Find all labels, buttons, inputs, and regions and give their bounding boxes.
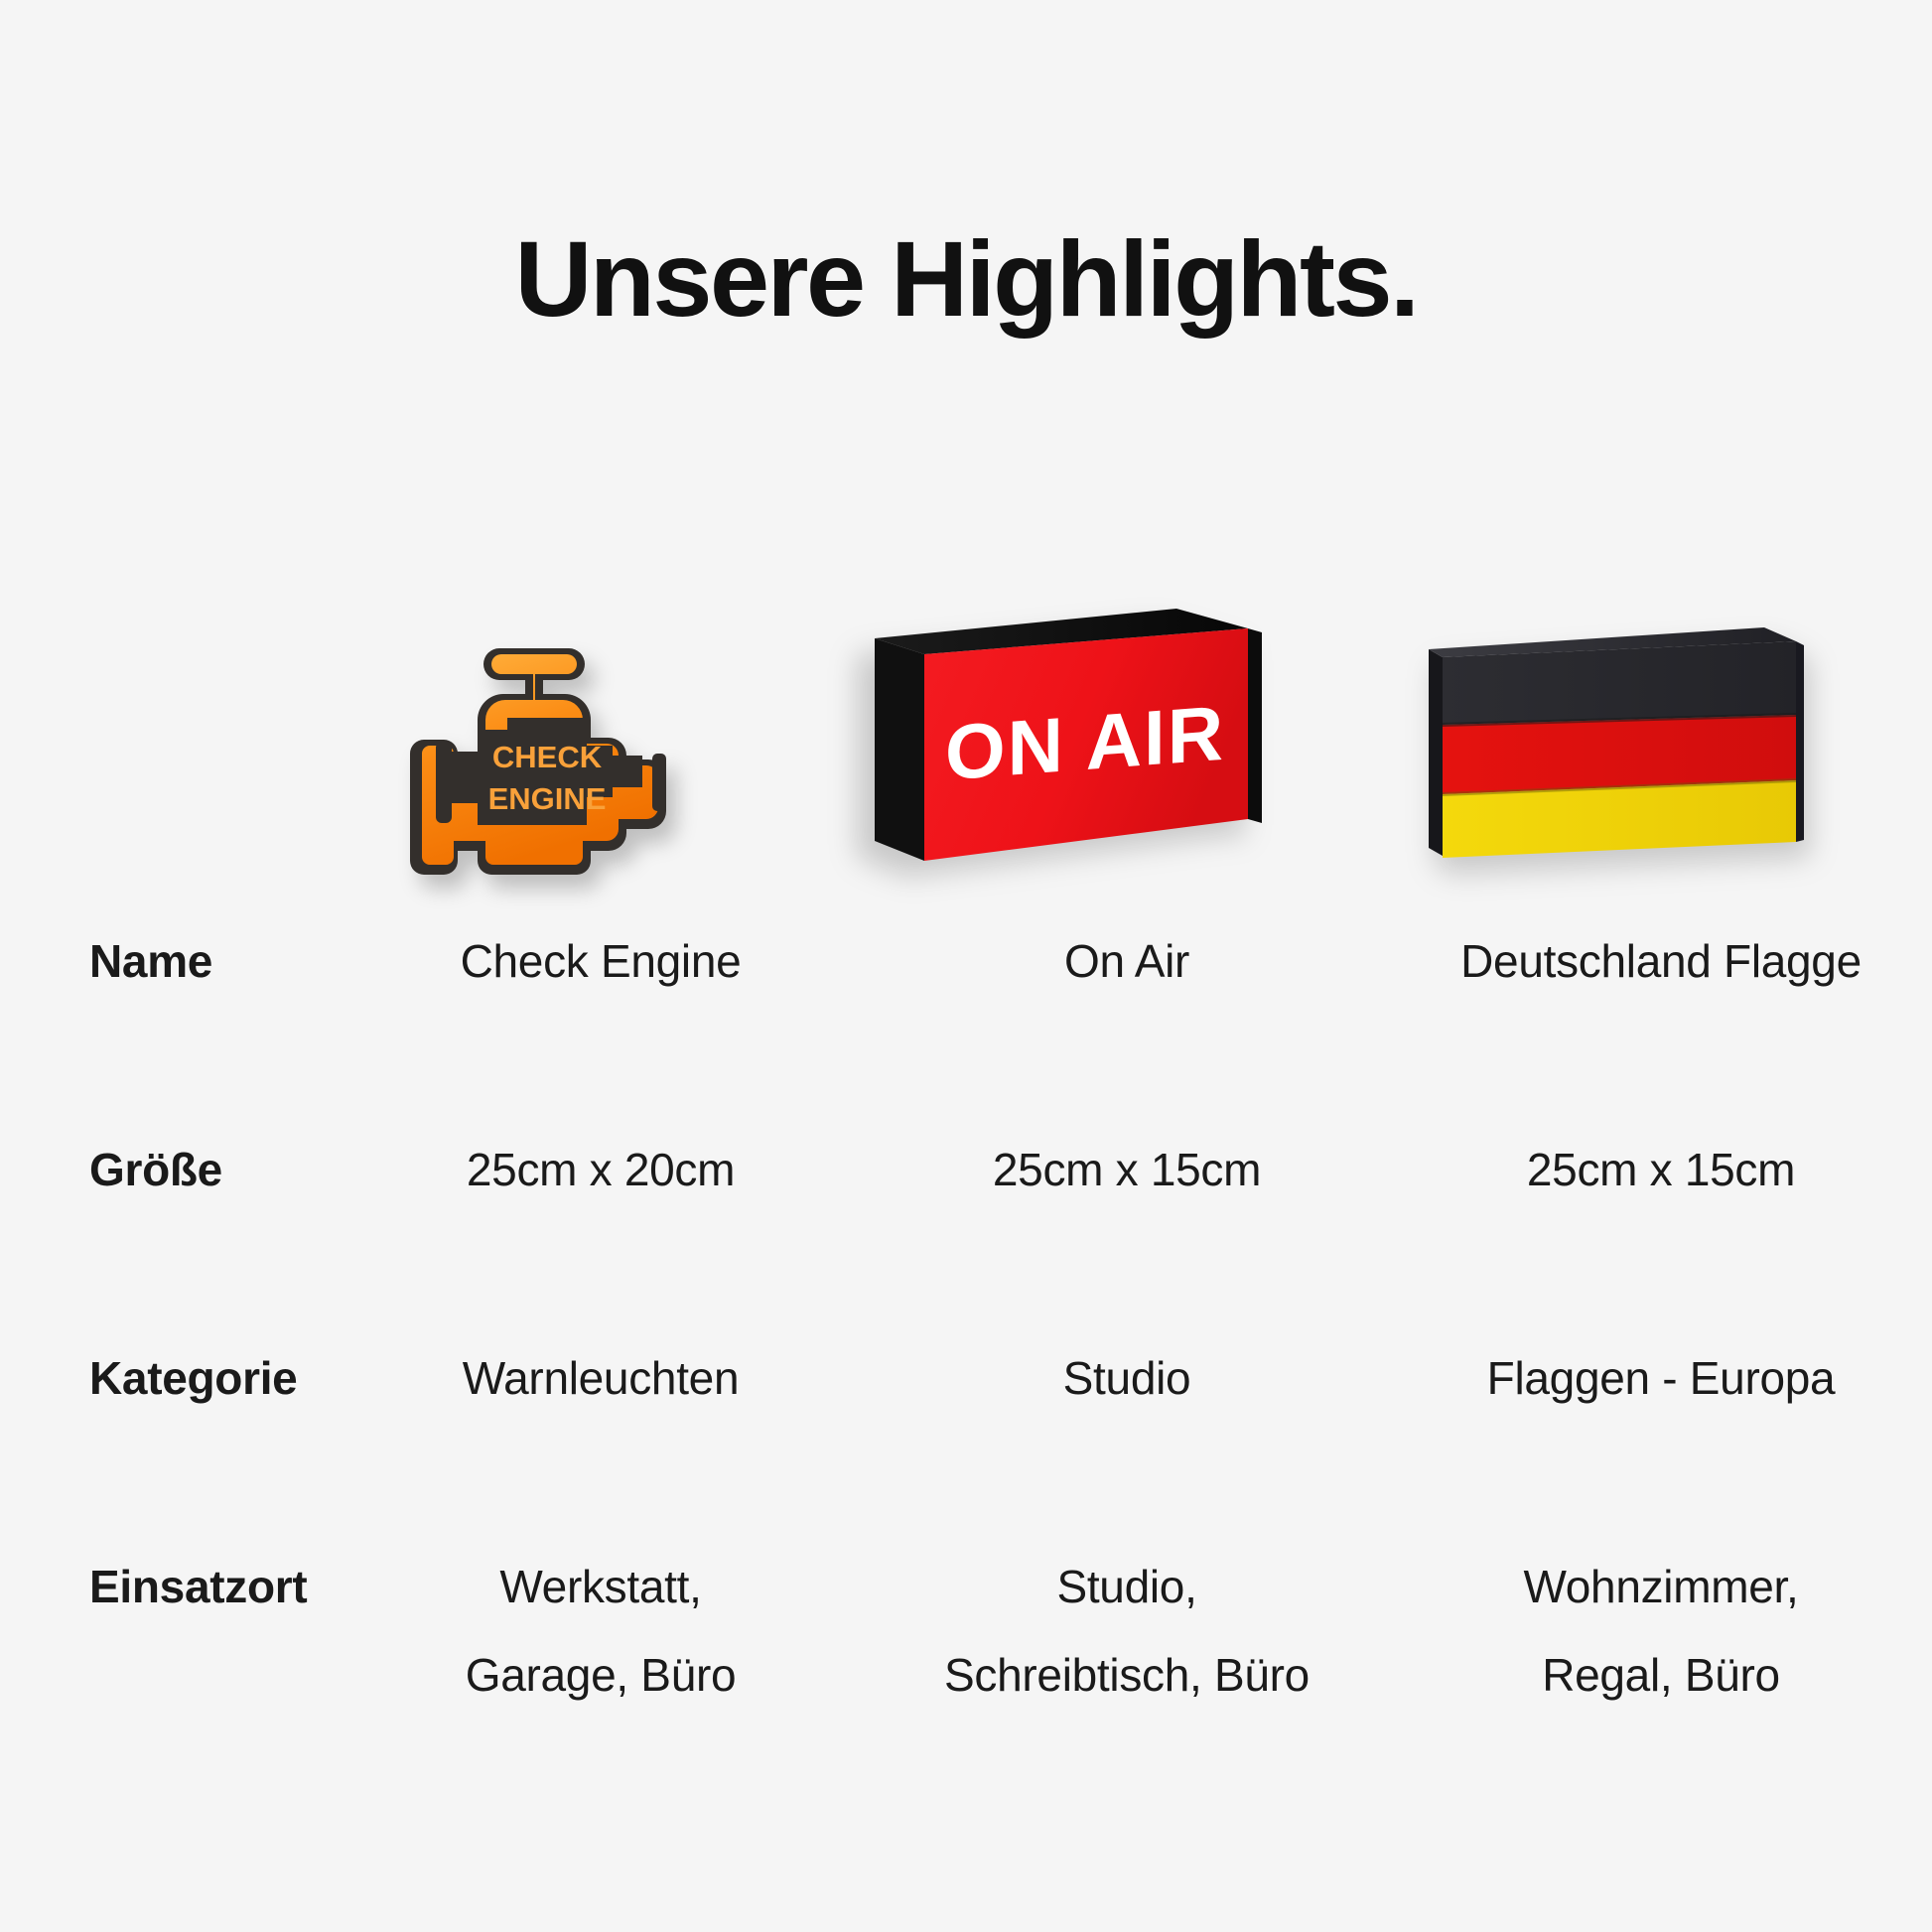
- einsatzort-line-1: Studio,: [864, 1554, 1390, 1620]
- einsatzort-line-2: Schreibtisch, Büro: [864, 1642, 1390, 1709]
- cell-einsatzort-check-engine: Werkstatt, Garage, Büro: [338, 1554, 864, 1802]
- cell-kategorie-check-engine: Warnleuchten: [338, 1345, 864, 1554]
- cell-groesse-on-air: 25cm x 15cm: [864, 1137, 1390, 1345]
- cell-kategorie-on-air: Studio: [864, 1345, 1390, 1554]
- germany-flag-lightbox-icon[interactable]: [1415, 616, 1812, 879]
- cell-einsatzort-on-air: Studio, Schreibtisch, Büro: [864, 1554, 1390, 1802]
- check-engine-lamp-icon[interactable]: CHECK ENGINE: [382, 622, 710, 879]
- einsatzort-line-2: Regal, Büro: [1390, 1642, 1932, 1709]
- row-label-groesse: Größe: [0, 1137, 338, 1345]
- table-row-einsatzort: Einsatzort Werkstatt, Garage, Büro Studi…: [0, 1554, 1932, 1802]
- table-row-groesse: Größe 25cm x 20cm 25cm x 15cm 25cm x 15c…: [0, 1137, 1932, 1345]
- einsatzort-line-1: Wohnzimmer,: [1390, 1554, 1932, 1620]
- product-image-check-engine[interactable]: CHECK ENGINE: [298, 551, 794, 879]
- page-title: Unsere Highlights.: [0, 220, 1932, 339]
- cell-name-on-air: On Air: [864, 928, 1390, 1137]
- product-image-deutschland-flagge[interactable]: [1340, 551, 1886, 879]
- cell-groesse-deutschland-flagge: 25cm x 15cm: [1390, 1137, 1932, 1345]
- table-row-kategorie: Kategorie Warnleuchten Studio Flaggen - …: [0, 1345, 1932, 1554]
- cell-name-deutschland-flagge: Deutschland Flagge: [1390, 928, 1932, 1137]
- einsatzort-line-1: Werkstatt,: [338, 1554, 864, 1620]
- cell-name-check-engine: Check Engine: [338, 928, 864, 1137]
- row-label-kategorie: Kategorie: [0, 1345, 338, 1554]
- check-engine-text-line2: ENGINE: [488, 781, 607, 816]
- row-label-name: Name: [0, 928, 338, 1137]
- cell-groesse-check-engine: 25cm x 20cm: [338, 1137, 864, 1345]
- on-air-lightbox-icon[interactable]: ON AIR: [859, 581, 1276, 879]
- table-row-name: Name Check Engine On Air Deutschland Fla…: [0, 928, 1932, 1137]
- row-label-einsatzort: Einsatzort: [0, 1554, 338, 1802]
- check-engine-text-line1: CHECK: [492, 740, 603, 774]
- einsatzort-line-2: Garage, Büro: [338, 1642, 864, 1709]
- cell-kategorie-deutschland-flagge: Flaggen - Europa: [1390, 1345, 1932, 1554]
- product-spec-table: Name Check Engine On Air Deutschland Fla…: [0, 928, 1932, 1802]
- product-image-on-air[interactable]: ON AIR: [794, 551, 1340, 879]
- cell-einsatzort-deutschland-flagge: Wohnzimmer, Regal, Büro: [1390, 1554, 1932, 1802]
- product-image-row: CHECK ENGINE: [298, 551, 1886, 879]
- highlights-page: Unsere Highlights.: [0, 0, 1932, 1932]
